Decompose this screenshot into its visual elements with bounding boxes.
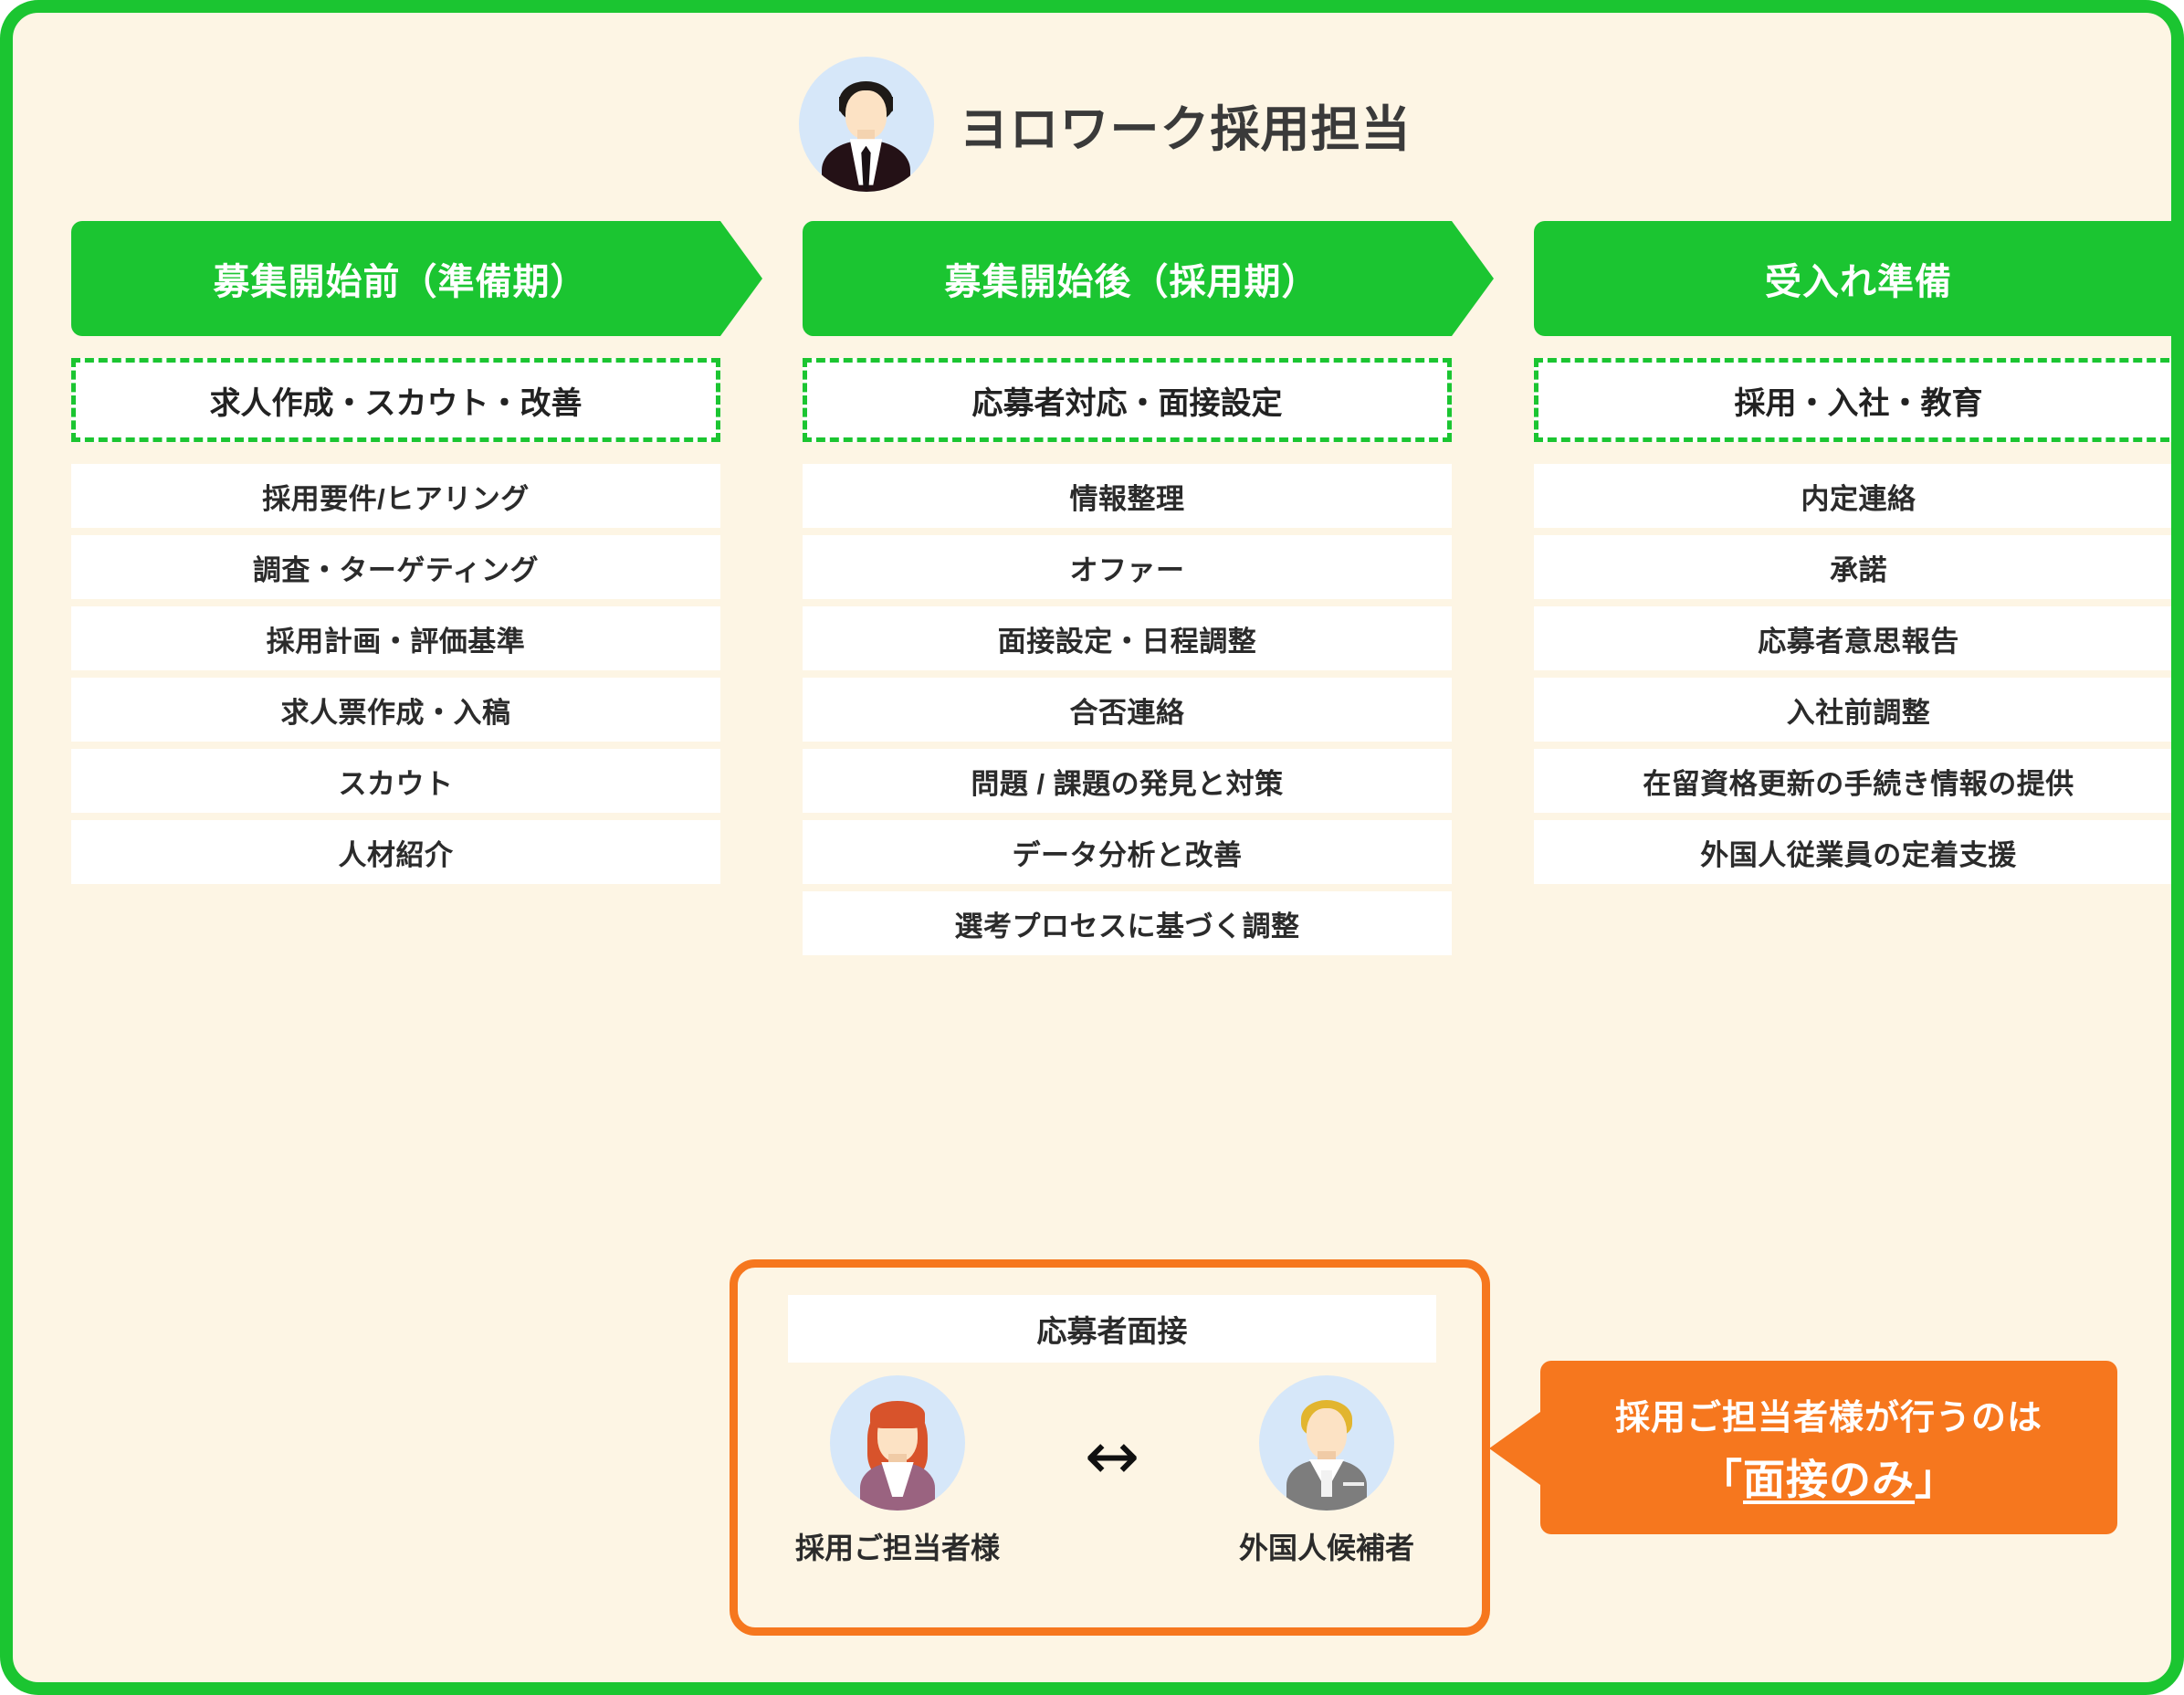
recruiter-label: 採用ご担当者様 (795, 1525, 1000, 1567)
task-item: 調査・ターゲティング (71, 535, 720, 599)
phase-column-3: 受入れ準備 採用・入社・教育 内定連絡 承諾 応募者意思報告 入社前調整 在留資… (1534, 221, 2183, 963)
task-item: 問題 / 課題の発見と対策 (803, 749, 1452, 813)
callout-quote-close: 」 (1915, 1456, 1958, 1503)
callout-line-2: 「面接のみ」 (1700, 1447, 1958, 1507)
phase-subtitle-3: 採用・入社・教育 (1534, 358, 2183, 442)
phase-columns: 募集開始前（準備期） 求人作成・スカウト・改善 採用要件/ヒアリング 調査・ター… (71, 221, 2138, 963)
phase-subtitle-1: 求人作成・スカウト・改善 (71, 358, 720, 442)
callout-line-1: 採用ご担当者様が行うのは (1615, 1389, 2042, 1439)
phase-header-1-label: 募集開始前（準備期） (214, 252, 588, 305)
interview-participant-recruiter: 採用ご担当者様 (783, 1375, 1012, 1567)
task-item: 応募者意思報告 (1534, 606, 2183, 670)
task-item: 合否連絡 (803, 678, 1452, 742)
phase-header-1: 募集開始前（準備期） (71, 221, 762, 336)
task-item: 採用要件/ヒアリング (71, 464, 720, 528)
task-item: 人材紹介 (71, 820, 720, 884)
phase-header-2: 募集開始後（採用期） (803, 221, 1494, 336)
callout-emphasis: 面接のみ (1743, 1456, 1915, 1503)
interview-highlight-box: 応募者面接 採用ご担当者様 ↔ (730, 1259, 1490, 1636)
task-item: 内定連絡 (1534, 464, 2183, 528)
phase-subtitle-2: 応募者対応・面接設定 (803, 358, 1452, 442)
task-item: オファー (803, 535, 1452, 599)
task-item: スカウト (71, 749, 720, 813)
phase-header-2-label: 募集開始後（採用期） (945, 252, 1319, 305)
task-list-1: 採用要件/ヒアリング 調査・ターゲティング 採用計画・評価基準 求人票作成・入稿… (71, 464, 720, 884)
business-man-avatar-icon (799, 57, 934, 192)
task-list-2: 情報整理 オファー 面接設定・日程調整 合否連絡 問題 / 課題の発見と対策 デ… (803, 464, 1452, 955)
task-list-3: 内定連絡 承諾 応募者意思報告 入社前調整 在留資格更新の手続き情報の提供 外国… (1534, 464, 2183, 884)
task-item: 在留資格更新の手続き情報の提供 (1534, 749, 2183, 813)
diagram-canvas: ヨロワーク採用担当 募集開始前（準備期） 求人作成・スカウト・改善 採用要件/ヒ… (0, 0, 2184, 1695)
phase-header-3: 受入れ準備 (1534, 221, 2183, 336)
interview-participants: 採用ご担当者様 ↔ 外国人候補者 (783, 1375, 1441, 1567)
persona-header: ヨロワーク採用担当 (13, 57, 2184, 192)
task-item: 情報整理 (803, 464, 1452, 528)
task-item: 採用計画・評価基準 (71, 606, 720, 670)
task-item: 承諾 (1534, 535, 2183, 599)
task-item: 面接設定・日程調整 (803, 606, 1452, 670)
task-item: 選考プロセスに基づく調整 (803, 891, 1452, 955)
phase-column-1: 募集開始前（準備期） 求人作成・スカウト・改善 採用要件/ヒアリング 調査・ター… (71, 221, 720, 963)
interview-title: 応募者面接 (788, 1295, 1436, 1363)
task-item: 求人票作成・入稿 (71, 678, 720, 742)
interview-participant-candidate: 外国人候補者 (1213, 1375, 1441, 1567)
callout-quote-open: 「 (1700, 1456, 1743, 1503)
female-recruiter-avatar-icon (830, 1375, 965, 1511)
phase-header-3-label: 受入れ準備 (1765, 252, 1952, 305)
bidirectional-arrow-icon: ↔ (1021, 1423, 1203, 1489)
task-item: 入社前調整 (1534, 678, 2183, 742)
callout-banner: 採用ご担当者様が行うのは 「面接のみ」 (1540, 1361, 2117, 1534)
male-candidate-avatar-icon (1259, 1375, 1394, 1511)
task-item: 外国人従業員の定着支援 (1534, 820, 2183, 884)
task-item: データ分析と改善 (803, 820, 1452, 884)
phase-column-2: 募集開始後（採用期） 応募者対応・面接設定 情報整理 オファー 面接設定・日程調… (803, 221, 1452, 963)
page-title: ヨロワーク採用担当 (960, 89, 1412, 161)
candidate-label: 外国人候補者 (1239, 1525, 1414, 1567)
